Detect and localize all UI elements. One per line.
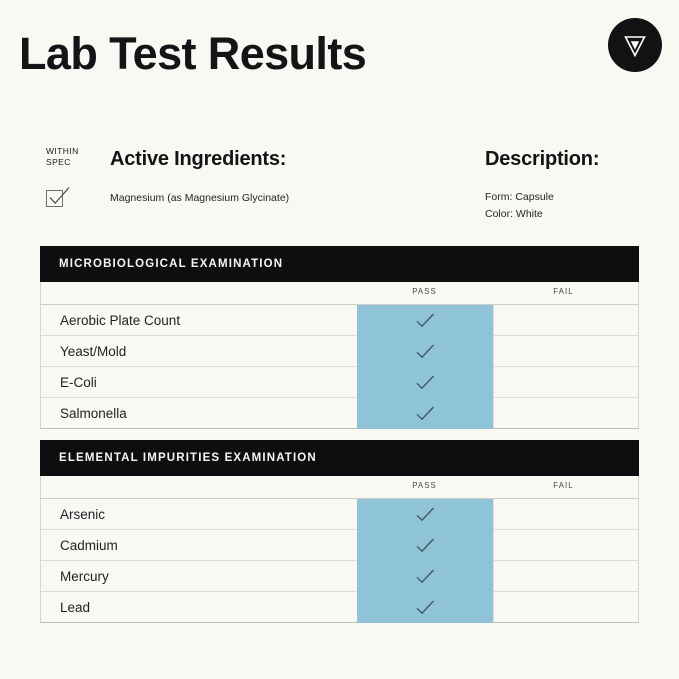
page-title: Lab Test Results [19, 28, 366, 80]
pass-cell[interactable] [357, 367, 493, 398]
table-row[interactable]: Yeast/Mold [40, 336, 639, 367]
table-row[interactable]: Cadmium [40, 530, 639, 561]
fail-cell[interactable] [493, 561, 638, 592]
description-form-line: Form: Capsule [485, 189, 599, 206]
checkmark-icon [414, 341, 436, 363]
table-row[interactable]: Aerobic Plate Count [40, 305, 639, 336]
test-name: Salmonella [60, 398, 127, 429]
pass-cell[interactable] [357, 398, 493, 429]
test-name: Mercury [60, 561, 109, 592]
description-color-line: Color: White [485, 206, 599, 223]
section-title: Elemental Impurities Examination [59, 452, 317, 464]
checkmark-icon [414, 504, 436, 526]
checkmark-icon [414, 310, 436, 332]
elemental-impurities-examination-table: Elemental Impurities Examination PASS FA… [40, 440, 639, 623]
test-name: Cadmium [60, 530, 118, 561]
checkmark-icon [414, 535, 436, 557]
column-header-pass: PASS [357, 287, 492, 296]
column-header-fail: FAIL [496, 481, 631, 490]
fail-cell[interactable] [493, 367, 638, 398]
pass-cell[interactable] [357, 530, 493, 561]
fail-cell[interactable] [493, 398, 638, 429]
section-title: Microbiological Examination [59, 258, 283, 270]
checkmark-icon [414, 403, 436, 425]
column-header-row: PASS FAIL [40, 282, 639, 305]
column-header-fail: FAIL [496, 287, 631, 296]
test-name: E-Coli [60, 367, 97, 398]
within-spec-checkbox[interactable] [46, 190, 63, 207]
pass-cell[interactable] [357, 499, 493, 530]
fail-cell[interactable] [493, 336, 638, 367]
checkmark-icon [414, 566, 436, 588]
checkmark-icon [414, 372, 436, 394]
microbiological-examination-table: Microbiological Examination PASS FAIL Ae… [40, 246, 639, 429]
test-name: Aerobic Plate Count [60, 305, 180, 336]
active-ingredient-item: Magnesium (as Magnesium Glycinate) [110, 191, 289, 206]
test-name: Arsenic [60, 499, 105, 530]
description-block: Description: Form: Capsule Color: White [485, 146, 599, 223]
column-header-pass: PASS [357, 481, 492, 490]
pass-cell[interactable] [357, 305, 493, 336]
fail-cell[interactable] [493, 305, 638, 336]
table-row[interactable]: Mercury [40, 561, 639, 592]
pass-cell[interactable] [357, 592, 493, 623]
table-row[interactable]: Lead [40, 592, 639, 623]
fail-cell[interactable] [493, 530, 638, 561]
inverted-triangle-logo-icon [621, 31, 649, 59]
active-ingredients-block: Active Ingredients: Magnesium (as Magnes… [110, 146, 289, 206]
within-spec-label-line1: WITHIN [46, 146, 104, 157]
pass-cell[interactable] [357, 336, 493, 367]
within-spec-block: WITHIN SPEC [46, 146, 104, 207]
within-spec-label-line2: SPEC [46, 157, 104, 168]
test-name: Lead [60, 592, 90, 623]
section-header-band: Microbiological Examination [40, 246, 639, 282]
test-name: Yeast/Mold [60, 336, 126, 367]
fail-cell[interactable] [493, 499, 638, 530]
brand-logo [608, 18, 662, 72]
section-header-band: Elemental Impurities Examination [40, 440, 639, 476]
table-row[interactable]: E-Coli [40, 367, 639, 398]
checkmark-icon [414, 597, 436, 619]
table-row[interactable]: Salmonella [40, 398, 639, 429]
pass-cell[interactable] [357, 561, 493, 592]
page-header: Lab Test Results [0, 0, 679, 118]
table-row[interactable]: Arsenic [40, 499, 639, 530]
active-ingredients-heading: Active Ingredients: [110, 146, 289, 172]
column-header-row: PASS FAIL [40, 476, 639, 499]
info-band: WITHIN SPEC Active Ingredients: Magnesiu… [0, 138, 679, 234]
description-heading: Description: [485, 146, 599, 172]
fail-cell[interactable] [493, 592, 638, 623]
